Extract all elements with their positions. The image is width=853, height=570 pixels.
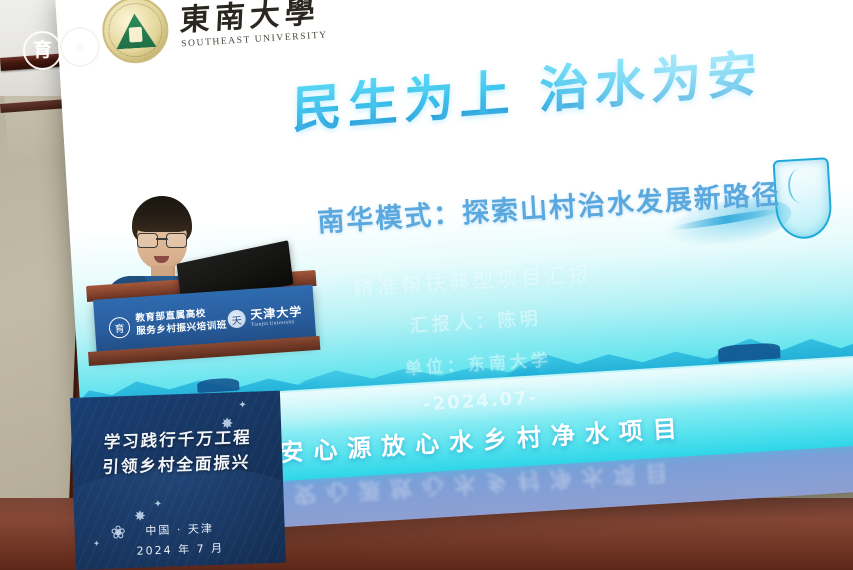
- university-seal-icon: [100, 0, 170, 65]
- tju-seal-icon: 天: [227, 309, 246, 328]
- tju-name-cn: 天津大学: [250, 305, 303, 321]
- podium-front-panel: ✸ ✦ ✸ ✦ ❀ ✦ 学习践行千万工程 引领乡村全面振兴 中国 · 天津 20…: [70, 391, 286, 570]
- emblem-glyph: ❊: [75, 41, 84, 54]
- screenshot-root: 東南大學 SOUTHEAST UNIVERSITY 民生为上 治水为安 南华模式…: [0, 0, 853, 570]
- eyeglasses-icon: [137, 233, 187, 246]
- training-program-emblem-icon: 育: [23, 31, 62, 70]
- ministry-program-logo-icon: 育: [108, 316, 130, 338]
- podium-meta: 中国 · 天津 2024 年 7 月: [74, 517, 285, 564]
- podium-banner-text: 教育部直属高校 服务乡村振兴培训班: [135, 307, 227, 339]
- southeast-university-logo: 東南大學 SOUTHEAST UNIVERSITY: [100, 0, 328, 65]
- tianjin-university-logo: 天 天津大学 Tianjin University: [227, 305, 303, 329]
- tju-wordmark: 天津大学 Tianjin University: [250, 305, 303, 328]
- snowflake-icon: ✦: [154, 499, 163, 510]
- lens-right: [166, 233, 187, 248]
- program-logo-glyph: 育: [114, 319, 125, 335]
- slide-main-title: 民生为上 治水为安: [292, 43, 812, 136]
- speaker-fringe: [134, 210, 190, 232]
- lens-left: [137, 233, 158, 248]
- podium-headline: 学习践行千万工程 引领乡村全面振兴: [71, 425, 283, 482]
- university-seal-emblem-icon: ❊: [60, 27, 100, 67]
- emblem-glyph: 育: [33, 41, 52, 60]
- university-wordmark: 東南大學 SOUTHEAST UNIVERSITY: [179, 0, 328, 49]
- snowflake-icon: ✦: [238, 400, 247, 411]
- tju-glyph: 天: [231, 311, 242, 327]
- university-name-cn: 東南大學: [179, 0, 327, 36]
